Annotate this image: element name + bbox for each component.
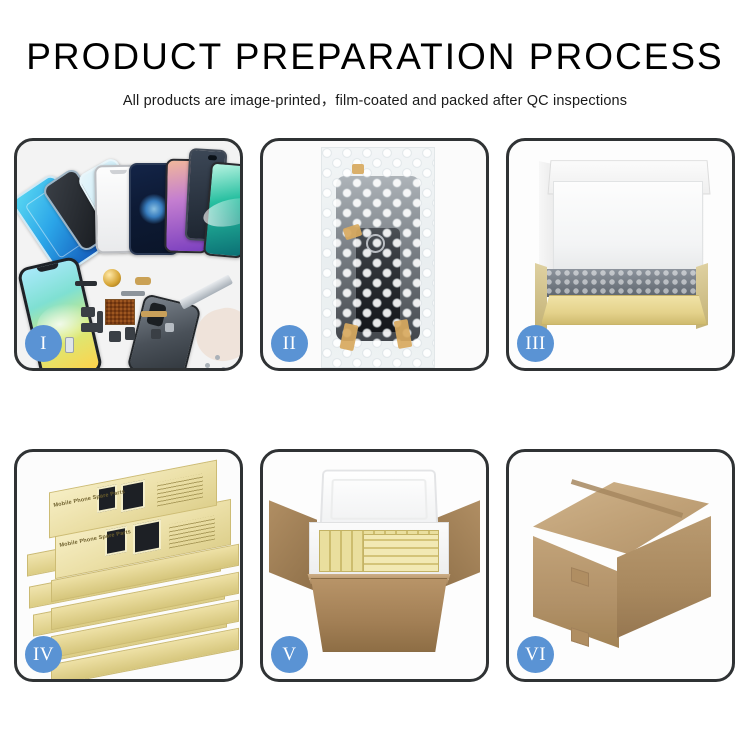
circuit-board-icon	[105, 299, 135, 325]
carton-front-face	[305, 578, 453, 652]
page-subtitle: All products are image-printed，film-coat…	[0, 89, 750, 110]
process-step-6: VI	[506, 449, 735, 682]
ribbon-cable-part	[141, 311, 167, 317]
process-step-grid: I II	[14, 138, 736, 686]
process-step-3: III	[506, 138, 735, 371]
bubble-texture	[322, 148, 434, 367]
step-badge-2: II	[271, 325, 308, 362]
process-step-4: Mobile Phone Spare Parts Mobile Phone Sp…	[14, 449, 243, 682]
small-part-f	[125, 327, 135, 340]
tweezers-icon	[179, 274, 233, 309]
yellow-boxes-inside-second	[363, 534, 439, 572]
bubble-wrap-bag	[321, 147, 435, 368]
flex-cable-part	[75, 281, 97, 286]
step-badge-6: VI	[517, 636, 554, 673]
process-step-1: I	[14, 138, 243, 371]
yellow-box-front	[541, 295, 707, 325]
step-badge-1: I	[25, 325, 62, 362]
tape-piece	[352, 164, 364, 174]
product-preparation-infographic: PRODUCT PREPARATION PROCESS All products…	[0, 0, 750, 750]
process-step-5: V	[260, 449, 489, 682]
gold-component-icon	[103, 269, 121, 287]
screw-icon	[205, 363, 210, 368]
screw-icon	[221, 367, 226, 371]
small-part-e	[109, 331, 121, 342]
small-part-i	[165, 323, 174, 332]
process-step-2: II	[260, 138, 489, 371]
small-part-k	[97, 311, 103, 333]
box-window-graphic	[121, 480, 145, 513]
step-badge-4: IV	[25, 636, 62, 673]
page-title: PRODUCT PREPARATION PROCESS	[0, 38, 750, 75]
header: PRODUCT PREPARATION PROCESS All products…	[0, 0, 750, 110]
styrofoam-lid	[320, 470, 439, 530]
small-part-c	[81, 307, 95, 317]
grey-bubble-wrap-contents	[545, 269, 703, 297]
gold-connector-part	[135, 277, 151, 285]
teal-phone	[203, 161, 243, 258]
antenna-strip-part	[121, 291, 145, 296]
small-part-h	[151, 329, 161, 339]
white-foam-sheet	[553, 181, 703, 273]
step-badge-5: V	[271, 636, 308, 673]
screw-icon	[215, 355, 220, 360]
step-badge-3: III	[517, 325, 554, 362]
sim-tray-part	[65, 337, 74, 353]
box-window-graphic	[133, 519, 161, 554]
